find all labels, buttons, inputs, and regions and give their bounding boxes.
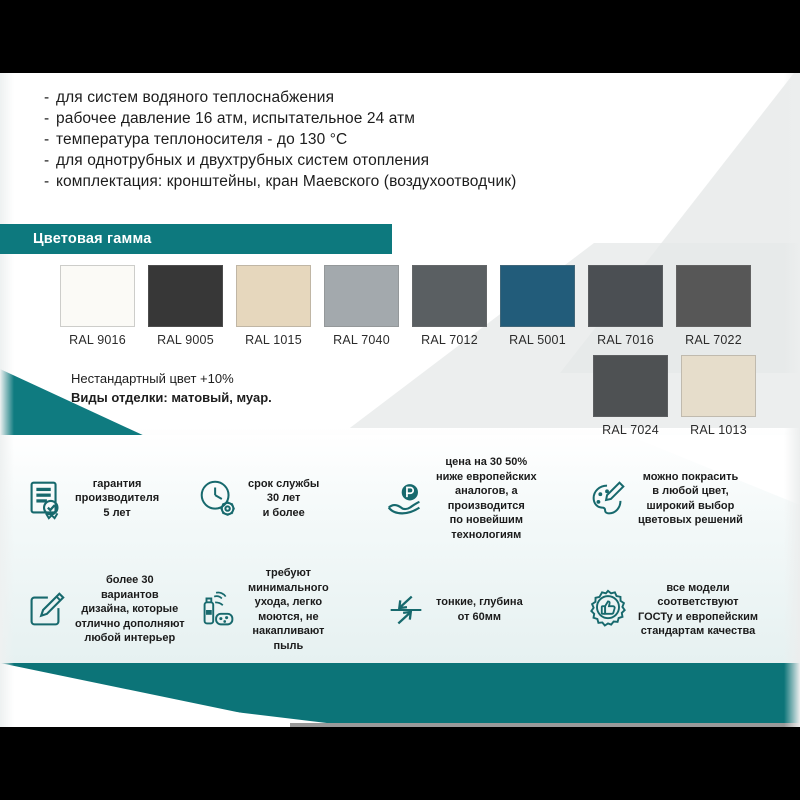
swatch-label: RAL 7040 [324,333,399,347]
feature-line: от 60мм [458,611,501,623]
slide-canvas: - для систем водяного теплоснабжения - р… [0,73,800,727]
color-swatch[interactable]: RAL 5001 [500,265,575,347]
bullet-dash-icon: - [44,129,56,150]
feature-warranty-text: гарантия производителя 5 лет [75,477,159,521]
feature-line: аналогов, а [455,485,518,497]
spec-item: - температура теплоносителя - до 130 °С [44,129,644,150]
color-note-finish: Виды отделки: матовый, муар. [71,388,272,407]
feature-line: все модели [666,582,729,594]
feature-line: 5 лет [103,507,130,519]
feature-service-life: срок службы 30 лет и более [185,455,375,542]
color-swatch[interactable]: RAL 1013 [681,355,756,437]
features-grid: гарантия производителя 5 лет [0,455,800,653]
feature-price: цена на 30 50% ниже европейских аналогов… [375,455,575,542]
feature-line: требуют [266,567,311,579]
swatch-chip [148,265,223,327]
swatch-chip [412,265,487,327]
feature-line: цена на 30 50% [445,456,527,468]
spec-item: - комплектация: кронштейны, кран Маевско… [44,171,644,192]
feature-line: технологиям [451,529,521,541]
color-swatch[interactable]: RAL 7016 [588,265,663,347]
color-swatch[interactable]: RAL 7024 [593,355,668,437]
feature-line: широкий выбор [647,500,735,512]
feature-line: и более [263,507,305,519]
feature-maintenance-text: требуют минимального ухода, легко моются… [248,566,329,653]
swatch-chip [681,355,756,417]
color-swatch[interactable]: RAL 1015 [236,265,311,347]
swatch-label: RAL 7012 [412,333,487,347]
feature-depth-text: тонкие, глубина от 60мм [436,595,523,624]
swatch-row-secondary: RAL 7024 RAL 1013 [593,355,769,437]
swatch-label: RAL 9005 [148,333,223,347]
features-row-2: более 30 вариантов дизайна, которые отли… [0,566,800,653]
bullet-dash-icon: - [44,108,56,129]
feature-line: накапливают [252,625,324,637]
feature-line: цветовых решений [638,514,743,526]
hand-ruble-icon [383,476,429,522]
bullet-dash-icon: - [44,87,56,108]
spray-sponge-icon [195,587,241,633]
color-swatch[interactable]: RAL 7040 [324,265,399,347]
color-swatch[interactable]: RAL 9016 [60,265,135,347]
feature-line: производится [448,500,525,512]
feature-line: производителя [75,492,159,504]
feature-price-text: цена на 30 50% ниже европейских аналогов… [436,455,537,542]
feature-line: дизайна, которые [81,603,178,615]
feature-line: пыль [273,640,303,652]
feature-line: моются, не [258,611,318,623]
features-row-1: гарантия производителя 5 лет [0,455,800,542]
feature-line: более 30 [106,574,154,586]
bullet-dash-icon: - [44,150,56,171]
feature-line: любой интерьер [84,632,175,644]
color-section-title: Цветовая гамма [33,231,151,247]
feature-line: стандартам качества [641,625,756,637]
letterbox-top [0,0,800,73]
feature-line: 30 лет [267,492,301,504]
swatch-chip [236,265,311,327]
feature-line: отлично дополняют [75,618,185,630]
feature-designs-text: более 30 вариантов дизайна, которые отли… [75,573,185,646]
swatch-label: RAL 1015 [236,333,311,347]
letterbox-bottom [0,727,800,800]
feature-line: соответствуют [657,596,738,608]
bullet-dash-icon: - [44,171,56,192]
feature-line: вариантов [101,589,159,601]
feature-line: ухода, легко [255,596,323,608]
color-note-custom: Нестандартный цвет +10% [71,369,272,388]
feature-paint: можно покрасить в любой цвет, широкий вы… [575,455,800,542]
feature-depth: тонкие, глубина от 60мм [375,566,575,653]
feature-maintenance: требуют минимального ухода, легко моются… [185,566,375,653]
feature-paint-text: можно покрасить в любой цвет, широкий вы… [638,470,743,528]
feature-line: ниже европейских [436,471,537,483]
swatch-chip [593,355,668,417]
spec-item-text: для однотрубных и двухтрубных систем ото… [56,150,429,171]
feature-line: срок службы [248,478,319,490]
spec-item-text: для систем водяного теплоснабжения [56,87,334,108]
feature-line: минимального [248,582,329,594]
swatch-chip [676,265,751,327]
swatch-chip [500,265,575,327]
feature-line: по новейшим [450,514,523,526]
spec-item: - рабочее давление 16 атм, испытательное… [44,108,644,129]
swatch-row-primary: RAL 9016 RAL 9005 RAL 1015 RAL 7040 RAL … [60,265,764,347]
swatch-label: RAL 1013 [681,423,756,437]
feature-quality: все модели соответствуют ГОСТу и европей… [575,566,800,653]
feature-service-life-text: срок службы 30 лет и более [248,477,319,521]
color-section-header: Цветовая гамма [0,224,392,254]
swatch-label: RAL 5001 [500,333,575,347]
depth-arrows-icon [383,587,429,633]
quality-seal-icon [585,587,631,633]
spec-item-text: комплектация: кронштейны, кран Маевского… [56,171,516,192]
swatch-chip [324,265,399,327]
spec-item: - для однотрубных и двухтрубных систем о… [44,150,644,171]
specs-list: - для систем водяного теплоснабжения - р… [44,87,644,192]
color-notes: Нестандартный цвет +10% Виды отделки: ма… [71,369,272,407]
feature-line: тонкие, глубина [436,596,523,608]
clock-gear-icon [195,476,241,522]
color-swatch[interactable]: RAL 7022 [676,265,751,347]
feature-designs: более 30 вариантов дизайна, которые отли… [0,566,185,653]
feature-line: в любой цвет, [652,485,728,497]
spec-item-text: рабочее давление 16 атм, испытательное 2… [56,108,415,129]
swatch-label: RAL 9016 [60,333,135,347]
certificate-icon [22,476,68,522]
spec-item: - для систем водяного теплоснабжения [44,87,644,108]
swatch-chip [60,265,135,327]
swatch-label: RAL 7024 [593,423,668,437]
feature-line: можно покрасить [643,471,739,483]
palette-brush-icon [585,476,631,522]
pencil-square-icon [22,587,68,633]
swatch-chip [588,265,663,327]
spec-item-text: температура теплоносителя - до 130 °С [56,129,347,150]
feature-line: ГОСТу и европейским [638,611,758,623]
feature-quality-text: все модели соответствуют ГОСТу и европей… [638,581,758,639]
swatch-label: RAL 7016 [588,333,663,347]
swatch-label: RAL 7022 [676,333,751,347]
feature-line: гарантия [93,478,142,490]
slide-frame: - для систем водяного теплоснабжения - р… [0,0,800,800]
color-swatch[interactable]: RAL 7012 [412,265,487,347]
feature-warranty: гарантия производителя 5 лет [0,455,185,542]
color-swatch[interactable]: RAL 9005 [148,265,223,347]
